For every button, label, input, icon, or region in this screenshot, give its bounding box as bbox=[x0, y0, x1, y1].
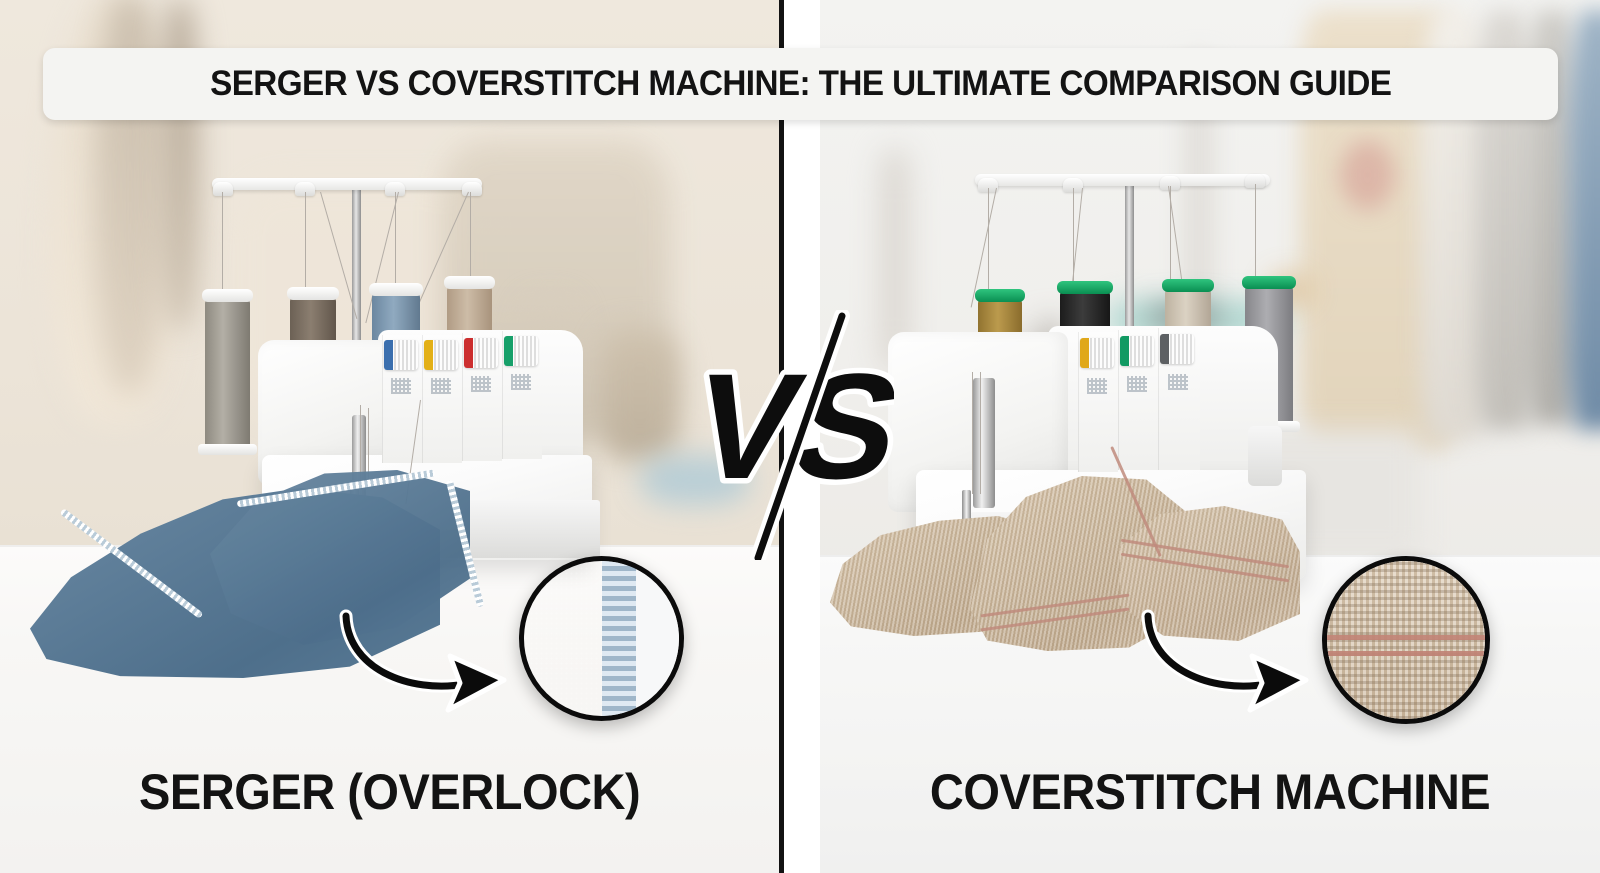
vs-badge: VS bbox=[694, 310, 894, 560]
dial-gray[interactable] bbox=[1160, 334, 1194, 364]
bg-blur-pink-garment bbox=[1340, 140, 1395, 210]
panel-serger bbox=[0, 0, 780, 873]
dial-green[interactable] bbox=[504, 336, 538, 366]
stitch-symbol-3 bbox=[1168, 374, 1188, 390]
thread-line-1 bbox=[988, 188, 989, 292]
needle-thread-2 bbox=[980, 372, 981, 494]
bg-blur-hanging-garment-4 bbox=[1568, 10, 1600, 430]
stitch-symbol-2 bbox=[1127, 376, 1147, 392]
detail-coverstitch-line-2 bbox=[1327, 651, 1485, 656]
needle-bar bbox=[973, 378, 995, 508]
thread-line-4 bbox=[470, 192, 471, 288]
caption-coverstitch-label: COVERSTITCH MACHINE bbox=[930, 763, 1490, 821]
machine-side-knob bbox=[1248, 426, 1282, 486]
title-bar: SERGER VS COVERSTITCH MACHINE: THE ULTIM… bbox=[43, 48, 1558, 120]
thread-tree-post bbox=[352, 180, 361, 365]
stitch-detail-coverstitch bbox=[1322, 556, 1490, 724]
caption-coverstitch: COVERSTITCH MACHINE bbox=[820, 763, 1600, 821]
thread-line-2 bbox=[305, 192, 306, 296]
curved-arrow-to-detail bbox=[1140, 598, 1330, 708]
detail-overlock-stitch bbox=[602, 561, 636, 716]
stitch-symbol-1 bbox=[1087, 378, 1107, 394]
stitch-symbol-1 bbox=[391, 378, 411, 394]
caption-serger-label: SERGER (OVERLOCK) bbox=[139, 763, 640, 821]
panel-coverstitch bbox=[820, 0, 1600, 873]
spool-gray bbox=[205, 298, 250, 448]
dial-yellow[interactable] bbox=[424, 340, 458, 370]
thread-line-1 bbox=[222, 192, 223, 298]
stitch-symbol-4 bbox=[511, 374, 531, 390]
needle-thread-1 bbox=[972, 372, 973, 494]
detail-background-area bbox=[636, 561, 679, 716]
stitch-symbol-2 bbox=[431, 378, 451, 394]
thread-guide-knob-4 bbox=[462, 182, 482, 196]
bg-blur-jar-2 bbox=[600, 330, 680, 460]
thread-line-4 bbox=[1255, 184, 1256, 280]
infographic-canvas: VS SERGER VS COVERSTITCH MACHINE: THE UL… bbox=[0, 0, 1600, 873]
detail-knit-area bbox=[1327, 561, 1485, 719]
thread-tree-bar bbox=[975, 174, 1270, 186]
page-title: SERGER VS COVERSTITCH MACHINE: THE ULTIM… bbox=[210, 64, 1391, 104]
stitch-detail-serger bbox=[519, 556, 684, 721]
thread-guide-knob-1 bbox=[213, 182, 233, 196]
caption-serger: SERGER (OVERLOCK) bbox=[0, 763, 780, 821]
stitch-symbol-3 bbox=[471, 376, 491, 392]
dial-red[interactable] bbox=[464, 338, 498, 368]
detail-coverstitch-line-1 bbox=[1327, 635, 1485, 640]
dial-yellow[interactable] bbox=[1080, 338, 1114, 368]
vs-badge-svg: VS bbox=[694, 310, 894, 560]
detail-fabric-area bbox=[524, 561, 605, 716]
dial-blue[interactable] bbox=[384, 340, 418, 370]
dial-green[interactable] bbox=[1120, 336, 1154, 366]
vs-label: VS bbox=[694, 344, 894, 511]
thread-tree-bar bbox=[212, 178, 482, 190]
curved-arrow-to-detail bbox=[338, 598, 528, 708]
